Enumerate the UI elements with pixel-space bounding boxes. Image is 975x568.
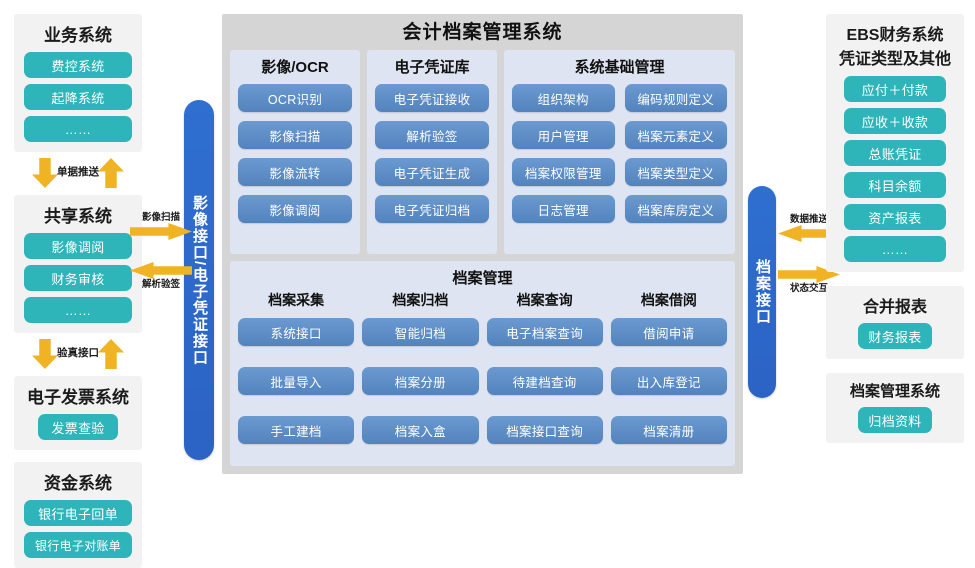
btn-ocr-recognition[interactable]: OCR识别 <box>238 84 352 112</box>
archive-column-query: 档案查询 电子档案查询 待建档查询 档案接口查询 <box>487 290 603 444</box>
btn-org-structure[interactable]: 组织架构 <box>512 84 615 112</box>
button-grid: 组织架构 用户管理 档案权限管理 日志管理 编码规则定义 档案元素定义 档案类型… <box>512 84 727 223</box>
btn-earchive-query[interactable]: 电子档案查询 <box>487 318 603 346</box>
group-title-ebs-line1: EBS财务系统 <box>836 21 954 45</box>
group-e-invoice-system: 电子发票系统 发票查验 <box>14 376 142 450</box>
btn-archive-type-def[interactable]: 档案类型定义 <box>625 158 728 186</box>
archive-column-collect: 档案采集 系统接口 批量导入 手工建档 <box>238 290 354 444</box>
button-column: 智能归档 档案分册 档案入盒 <box>362 318 478 444</box>
btn-inout-registration[interactable]: 出入库登记 <box>611 367 727 395</box>
btn-pending-archive-query[interactable]: 待建档查询 <box>487 367 603 395</box>
pill-起降系统[interactable]: 起降系统 <box>24 84 132 110</box>
group-archive-mgmt-system: 档案管理系统 归档资料 <box>826 373 964 443</box>
pill-科目余额[interactable]: 科目余额 <box>844 172 946 198</box>
arrow-group-解析验签: 解析验签 <box>130 262 192 290</box>
arrow-label-影像扫描: 影像扫描 <box>130 212 192 223</box>
btn-archive-inventory[interactable]: 档案清册 <box>611 416 727 444</box>
btn-archive-element-def[interactable]: 档案元素定义 <box>625 121 728 149</box>
group-merge-report: 合并报表 财务报表 <box>826 286 964 359</box>
group-title-shared-system: 共享系统 <box>24 202 132 227</box>
button-column: 电子凭证接收 解析验签 电子凭证生成 电子凭证归档 <box>375 84 489 223</box>
button-column: OCR识别 影像扫描 影像流转 影像调阅 <box>238 84 352 223</box>
pill-ebs-more[interactable]: …… <box>844 236 946 262</box>
left-systems-column: 业务系统 费控系统 起降系统 …… 单据推送 共享系统 影像调阅 财务审核 ……… <box>14 14 142 568</box>
pill-银行电子对账单[interactable]: 银行电子对账单 <box>24 532 132 558</box>
arrow-label-解析验签: 解析验签 <box>130 279 192 290</box>
group-business-system: 业务系统 费控系统 起降系统 …… <box>14 14 142 152</box>
btn-batch-import[interactable]: 批量导入 <box>238 367 354 395</box>
sub-title-档案采集: 档案采集 <box>238 290 354 310</box>
group-title-merge-report: 合并报表 <box>836 293 954 317</box>
button-column: 借阅申请 出入库登记 档案清册 <box>611 318 727 444</box>
group-title-e-invoice-system: 电子发票系统 <box>24 383 132 408</box>
pill-费控系统[interactable]: 费控系统 <box>24 52 132 78</box>
group-shared-system: 共享系统 影像调阅 财务审核 …… <box>14 195 142 333</box>
pill-归档资料[interactable]: 归档资料 <box>858 407 932 433</box>
arrow-label-验真接口: 验真接口 <box>14 345 142 360</box>
btn-system-interface[interactable]: 系统接口 <box>238 318 354 346</box>
pill-发票查验[interactable]: 发票查验 <box>38 414 118 440</box>
page-title: 会计档案管理系统 <box>230 20 735 45</box>
btn-archive-boxing[interactable]: 档案入盒 <box>362 416 478 444</box>
arrow-left-icon <box>130 262 192 279</box>
btn-evoucher-generate[interactable]: 电子凭证生成 <box>375 158 489 186</box>
group-title-fund-system: 资金系统 <box>24 469 132 494</box>
panel-image-ocr: 影像/OCR OCR识别 影像扫描 影像流转 影像调阅 <box>230 50 360 254</box>
arrow-pair-business-shared: 单据推送 <box>14 156 142 190</box>
archive-column-borrow: 档案借阅 借阅申请 出入库登记 档案清册 <box>611 290 727 444</box>
archive-column-row: 档案采集 系统接口 批量导入 手工建档 档案归档 智能归档 档案分册 档案入盒 … <box>238 290 727 444</box>
btn-borrow-application[interactable]: 借阅申请 <box>611 318 727 346</box>
sub-title-档案借阅: 档案借阅 <box>611 290 727 310</box>
btn-manual-create[interactable]: 手工建档 <box>238 416 354 444</box>
panel-title-e-voucher-library: 电子凭证库 <box>375 56 489 77</box>
group-title-ebs-line2: 凭证类型及其他 <box>836 45 954 69</box>
button-column-right: 编码规则定义 档案元素定义 档案类型定义 档案库房定义 <box>625 84 728 223</box>
pill-银行电子回单[interactable]: 银行电子回单 <box>24 500 132 526</box>
arrow-group-影像扫描: 影像扫描 <box>130 212 192 240</box>
button-column-left: 组织架构 用户管理 档案权限管理 日志管理 <box>512 84 615 223</box>
btn-smart-archiving[interactable]: 智能归档 <box>362 318 478 346</box>
panel-title-archive-management: 档案管理 <box>238 267 727 288</box>
interface-bar-archive[interactable]: 档案接口 <box>748 186 776 398</box>
button-column: 系统接口 批量导入 手工建档 <box>238 318 354 444</box>
pill-应付付款[interactable]: 应付＋付款 <box>844 76 946 102</box>
pill-business-more[interactable]: …… <box>24 116 132 142</box>
pill-财务报表[interactable]: 财务报表 <box>858 323 932 349</box>
btn-coding-rule-def[interactable]: 编码规则定义 <box>625 84 728 112</box>
btn-user-mgmt[interactable]: 用户管理 <box>512 121 615 149</box>
arrow-pair-shared-invoice: 验真接口 <box>14 337 142 371</box>
panel-system-base-mgmt: 系统基础管理 组织架构 用户管理 档案权限管理 日志管理 编码规则定义 档案元素… <box>504 50 735 254</box>
btn-image-retrieve[interactable]: 影像调阅 <box>238 195 352 223</box>
btn-archive-interface-query[interactable]: 档案接口查询 <box>487 416 603 444</box>
btn-image-scan[interactable]: 影像扫描 <box>238 121 352 149</box>
btn-image-flow[interactable]: 影像流转 <box>238 158 352 186</box>
arrow-right-icon <box>130 223 192 240</box>
pill-shared-more[interactable]: …… <box>24 297 132 323</box>
pill-财务审核[interactable]: 财务审核 <box>24 265 132 291</box>
right-systems-column: EBS财务系统 凭证类型及其他 应付＋付款 应收＋收款 总账凭证 科目余额 资产… <box>826 14 964 443</box>
panel-e-voucher-library: 电子凭证库 电子凭证接收 解析验签 电子凭证生成 电子凭证归档 <box>367 50 497 254</box>
btn-archive-volume-split[interactable]: 档案分册 <box>362 367 478 395</box>
pill-影像调阅[interactable]: 影像调阅 <box>24 233 132 259</box>
panel-title-image-ocr: 影像/OCR <box>238 56 352 77</box>
pill-资产报表[interactable]: 资产报表 <box>844 204 946 230</box>
btn-archive-warehouse-def[interactable]: 档案库房定义 <box>625 195 728 223</box>
btn-archive-permission-mgmt[interactable]: 档案权限管理 <box>512 158 615 186</box>
pill-应收收款[interactable]: 应收＋收款 <box>844 108 946 134</box>
button-column: 电子档案查询 待建档查询 档案接口查询 <box>487 318 603 444</box>
btn-evoucher-receive[interactable]: 电子凭证接收 <box>375 84 489 112</box>
panel-archive-management: 档案管理 档案采集 系统接口 批量导入 手工建档 档案归档 智能归档 档案分册 … <box>230 261 735 466</box>
sub-title-档案查询: 档案查询 <box>487 290 603 310</box>
group-ebs-finance-system: EBS财务系统 凭证类型及其他 应付＋付款 应收＋收款 总账凭证 科目余额 资产… <box>826 14 964 272</box>
accounting-archive-system-container: 会计档案管理系统 影像/OCR OCR识别 影像扫描 影像流转 影像调阅 电子凭… <box>222 14 743 474</box>
btn-evoucher-archive[interactable]: 电子凭证归档 <box>375 195 489 223</box>
sub-title-档案归档: 档案归档 <box>362 290 478 310</box>
group-fund-system: 资金系统 银行电子回单 银行电子对账单 <box>14 462 142 568</box>
archive-column-archiving: 档案归档 智能归档 档案分册 档案入盒 <box>362 290 478 444</box>
btn-parse-verify-sign[interactable]: 解析验签 <box>375 121 489 149</box>
panel-title-system-base-mgmt: 系统基础管理 <box>512 56 727 77</box>
btn-log-mgmt[interactable]: 日志管理 <box>512 195 615 223</box>
group-title-business-system: 业务系统 <box>24 21 132 46</box>
pill-总账凭证[interactable]: 总账凭证 <box>844 140 946 166</box>
arrow-label-单据推送: 单据推送 <box>14 164 142 179</box>
group-title-archive-mgmt-system: 档案管理系统 <box>836 380 954 401</box>
top-panel-row: 影像/OCR OCR识别 影像扫描 影像流转 影像调阅 电子凭证库 电子凭证接收… <box>230 50 735 254</box>
